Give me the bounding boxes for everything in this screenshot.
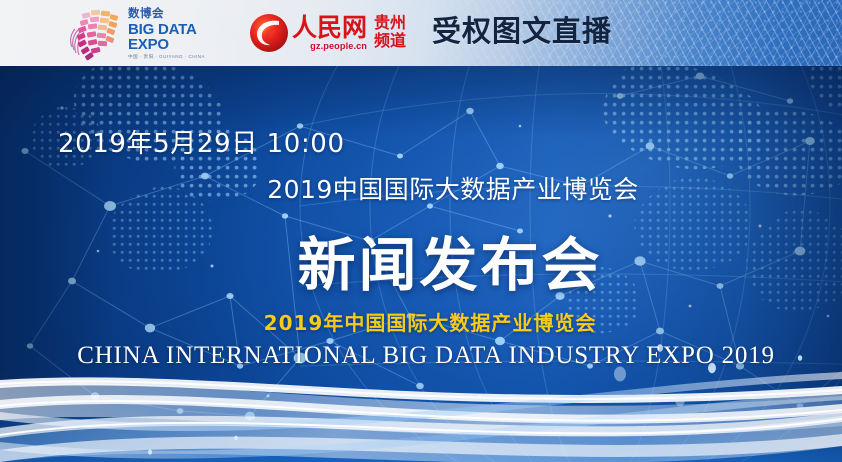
live-broadcast-banner: 数博会 BIG DATA EXPO 中国 · 贵阳 · GUIYANG · CH…	[0, 0, 842, 462]
event-datetime: 2019年5月29日 10:00	[58, 123, 345, 160]
gold-subtitle: 2019年中国国际大数据产业博览会	[0, 307, 842, 336]
people-cn-logo[interactable]: 人民网 gz.people.cn 贵州 频道	[248, 10, 406, 56]
bde-logo-cn-name: 数博会	[128, 9, 205, 21]
people-cn-swirl-icon	[248, 12, 290, 54]
english-subtitle: CHINA INTERNATIONAL BIG DATA INDUSTRY EX…	[0, 342, 842, 370]
banner-text-block: 2019年5月29日 10:00 2019中国国际大数据产业博览会 新闻发布会 …	[0, 66, 842, 462]
event-name: 2019中国国际大数据产业博览会	[0, 170, 842, 206]
channel-line-1: 贵州	[374, 15, 406, 33]
people-cn-channel: 贵州 频道	[374, 15, 406, 51]
people-cn-domain: gz.people.cn	[292, 41, 367, 51]
banner-stage: 2019年5月29日 10:00 2019中国国际大数据产业博览会 新闻发布会 …	[0, 66, 842, 462]
bde-logo-en-line1: BIG DATA	[128, 22, 205, 37]
headline: 新闻发布会	[0, 218, 842, 302]
channel-line-2: 频道	[374, 33, 406, 51]
bde-logo-en-line2: EXPO	[128, 37, 205, 52]
big-data-expo-spiral-icon	[62, 7, 124, 61]
live-broadcast-title: 受权图文直播	[432, 14, 612, 49]
bde-logo-locality: 中国 · 贵阳 · GUIYANG · CHINA	[128, 55, 205, 60]
big-data-expo-logo[interactable]: 数博会 BIG DATA EXPO 中国 · 贵阳 · GUIYANG · CH…	[62, 6, 242, 62]
people-cn-name: 人民网	[292, 15, 367, 41]
banner-header-band: 数博会 BIG DATA EXPO 中国 · 贵阳 · GUIYANG · CH…	[0, 0, 842, 66]
